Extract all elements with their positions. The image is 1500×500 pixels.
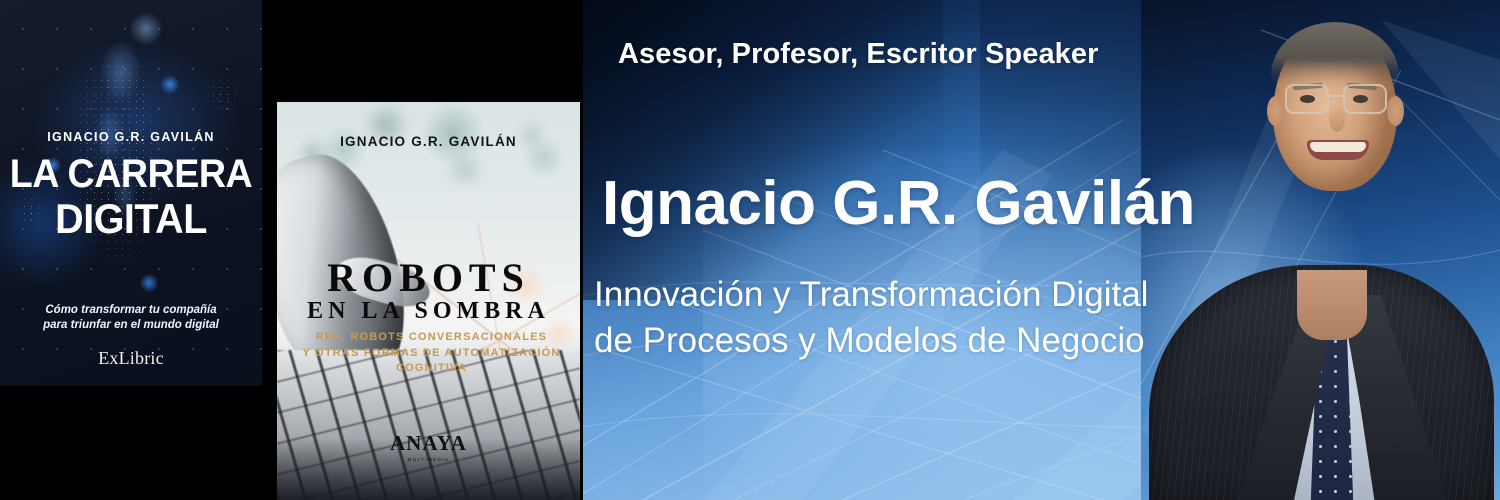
portrait-photo — [1141, 0, 1500, 500]
book-cover-robots-en-la-sombra[interactable]: IGNACIO G.R. GAVILÁN ROBOTS EN LA SOMBRA… — [277, 102, 580, 500]
neck — [1297, 270, 1367, 340]
lens-right — [1343, 84, 1387, 114]
nose — [1329, 104, 1345, 132]
page-title: Ignacio G.R. Gavilán — [602, 168, 1202, 239]
subtitle-line-1: Innovación y Transformación Digital — [594, 272, 1154, 318]
book-two-publisher: ANAYA — [277, 431, 580, 456]
book-two-publisher-logo: ANAYA MULTIMEDIA — [277, 431, 580, 462]
book-one-subtitle-line2: para triunfar en el mundo digital — [14, 318, 248, 333]
profile-banner: IGNACIO G.R. GAVILÁN LA CARRERA DIGITAL … — [0, 0, 1500, 500]
book-one-subtitle: Cómo transformar tu compañía para triunf… — [14, 303, 248, 333]
book-two-subtitle-line3: COGNITIVA — [299, 361, 564, 377]
book-one-author: IGNACIO G.R. GAVILÁN — [0, 130, 262, 144]
teeth — [1310, 142, 1366, 152]
book-one-publisher: ExLibric — [0, 348, 262, 369]
book-two-title-line1: ROBOTS — [277, 254, 580, 301]
book-two-subtitle-line1: RPA, ROBOTS CONVERSACIONALES — [299, 330, 564, 346]
tagline: Asesor, Profesor, Escritor Speaker — [618, 38, 1178, 71]
book-one-title-line1: LA CARRERA — [8, 152, 254, 196]
lens-left — [1285, 84, 1329, 114]
glasses-bridge — [1329, 95, 1345, 97]
book-two-title-line2: EN LA SOMBRA — [277, 298, 580, 325]
book-two-author: IGNACIO G.R. GAVILÁN — [277, 134, 580, 149]
subtitle-line-2: de Procesos y Modelos de Negocio — [594, 318, 1154, 364]
book-one-title-line2: DIGITAL — [8, 196, 254, 242]
subtitle: Innovación y Transformación Digital de P… — [594, 272, 1154, 364]
book-cover-la-carrera-digital[interactable]: IGNACIO G.R. GAVILÁN LA CARRERA DIGITAL … — [0, 0, 262, 386]
book-one-subtitle-line1: Cómo transformar tu compañía — [14, 303, 248, 318]
book-two-subtitle-line2: Y OTRAS FORMAS DE AUTOMATIZACIÓN — [299, 346, 564, 362]
book-two-subtitle: RPA, ROBOTS CONVERSACIONALES Y OTRAS FOR… — [299, 330, 564, 377]
mouth — [1307, 140, 1369, 160]
book-two-publisher-sub: MULTIMEDIA — [277, 457, 580, 462]
